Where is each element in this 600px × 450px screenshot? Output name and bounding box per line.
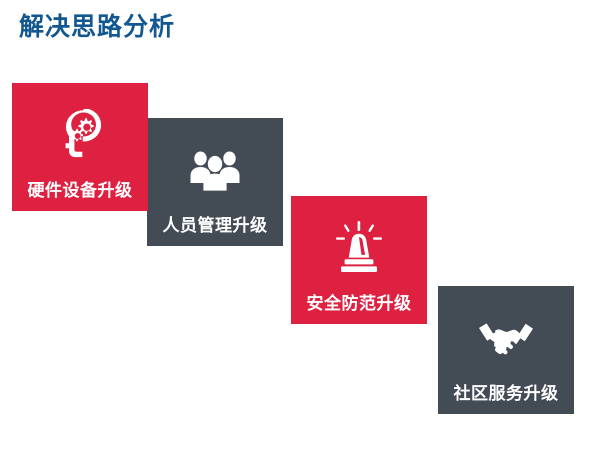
head-gears-icon bbox=[12, 103, 148, 165]
card-hardware-upgrade[interactable]: 硬件设备升级 bbox=[12, 83, 148, 211]
card-label: 社区服务升级 bbox=[438, 385, 574, 405]
card-personnel-upgrade[interactable]: 人员管理升级 bbox=[147, 118, 283, 246]
card-security-upgrade[interactable]: 安全防范升级 bbox=[291, 196, 427, 324]
card-label: 人员管理升级 bbox=[147, 217, 283, 237]
card-community-service-upgrade[interactable]: 社区服务升级 bbox=[438, 286, 574, 414]
handshake-icon bbox=[438, 306, 574, 368]
slide-canvas: 解决思路分析 硬件设备升级 人员管理升 bbox=[0, 0, 600, 450]
card-label: 硬件设备升级 bbox=[12, 182, 148, 202]
card-label: 安全防范升级 bbox=[291, 295, 427, 315]
people-group-icon bbox=[147, 138, 283, 200]
siren-alarm-icon bbox=[291, 216, 427, 278]
page-title: 解决思路分析 bbox=[19, 12, 175, 42]
